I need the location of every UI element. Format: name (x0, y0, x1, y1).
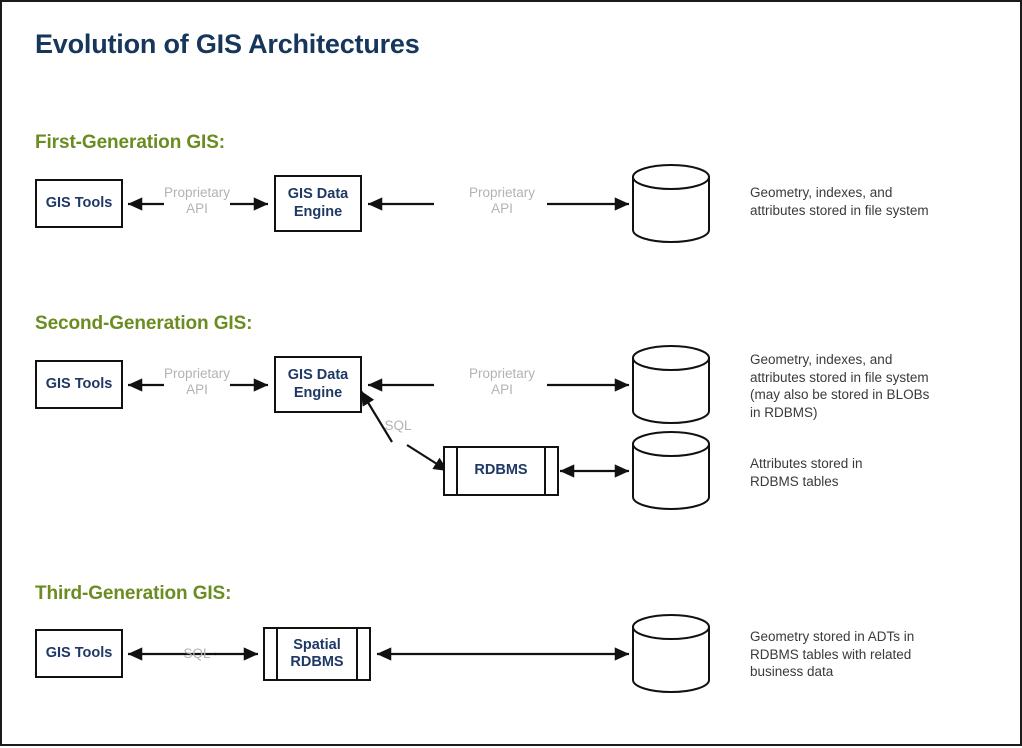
node-gis-tools-gen1[interactable]: GIS Tools (35, 179, 123, 228)
section-heading-third-generation: Third-Generation GIS: (35, 583, 231, 605)
cylinder-file-store-gen1 (633, 165, 709, 242)
edge-label-proprietary-api-engine-store-gen1: Proprietary API (461, 185, 543, 216)
node-gis-data-engine-gen1[interactable]: GIS Data Engine (274, 175, 362, 232)
node-label: GIS Tools (46, 195, 113, 212)
node-label-wrap: Spatial RDBMS (265, 629, 369, 679)
edge-label-sql-tools-spatial-gen3: SQL (162, 646, 232, 662)
node-gis-tools-gen2[interactable]: GIS Tools (35, 360, 123, 409)
arrow-engine-to-rdbms-sql-gen2 (407, 445, 448, 471)
node-label-line2: Engine (294, 204, 342, 221)
description-gen1: Geometry, indexes, and attributes stored… (750, 184, 995, 219)
slide-frame: Evolution of GIS Architectures First-Gen… (0, 0, 1022, 746)
node-label-line2: Engine (294, 385, 342, 402)
node-spatial-rdbms-gen3[interactable]: Spatial RDBMS (263, 627, 371, 681)
arrow-rdbms-to-engine-sql-gen2 (361, 391, 392, 442)
node-label-line1: GIS Data (288, 186, 348, 203)
section-heading-second-generation: Second-Generation GIS: (35, 313, 252, 335)
cylinder-rdbms-store-gen2 (633, 432, 709, 509)
edge-label-proprietary-api-tools-engine-gen2: Proprietary API (157, 366, 237, 397)
edge-label-proprietary-api-engine-store-gen2: Proprietary API (461, 366, 543, 397)
section-heading-first-generation: First-Generation GIS: (35, 132, 225, 154)
description-gen3: Geometry stored in ADTs in RDBMS tables … (750, 628, 995, 681)
node-gis-tools-gen3[interactable]: GIS Tools (35, 629, 123, 678)
description-gen2-file-store: Geometry, indexes, and attributes stored… (750, 351, 1000, 421)
cylinder-file-store-gen2 (633, 346, 709, 423)
description-gen2-rdbms-tables: Attributes stored in RDBMS tables (750, 455, 995, 490)
page-title: Evolution of GIS Architectures (35, 29, 420, 60)
node-label-line1: GIS Data (288, 367, 348, 384)
node-label-wrap: RDBMS (445, 448, 557, 494)
node-label: GIS Tools (46, 645, 113, 662)
node-label-line2: RDBMS (290, 654, 343, 671)
node-label: RDBMS (474, 462, 527, 479)
node-rdbms-gen2[interactable]: RDBMS (443, 446, 559, 496)
cylinder-spatial-store-gen3 (633, 615, 709, 692)
edge-label-proprietary-api-tools-engine-gen1: Proprietary API (157, 185, 237, 216)
edge-label-sql-engine-rdbms-gen2: SQL (382, 418, 414, 434)
node-label: GIS Tools (46, 376, 113, 393)
node-label-line1: Spatial (293, 637, 341, 654)
node-gis-data-engine-gen2[interactable]: GIS Data Engine (274, 356, 362, 413)
